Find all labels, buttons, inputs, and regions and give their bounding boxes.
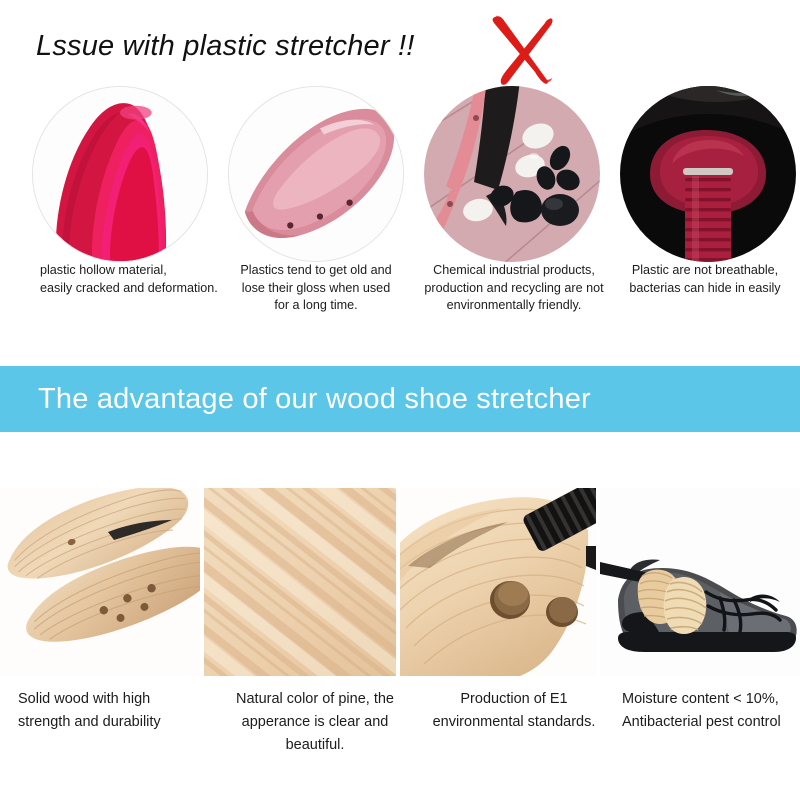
wood-caption-1: Solid wood with high strength and durabi… <box>18 688 208 734</box>
plastic-image-row <box>0 86 800 266</box>
plastic-image-4 <box>620 86 796 262</box>
plastic-issues-section: Lssue with plastic stretcher !! <box>0 0 800 366</box>
plastic-image-2 <box>228 86 404 262</box>
wood-caption-4: Moisture content < 10%, Antibacterial pe… <box>622 688 800 734</box>
caption-line: bacterias can hide in easily <box>614 280 796 298</box>
wood-image-2 <box>204 488 396 676</box>
wood-caption-2: Natural color of pine, the apperance is … <box>212 688 418 757</box>
red-cross-x-icon <box>489 14 555 86</box>
pine-wood-grain-closeup-photo <box>204 488 396 676</box>
caption-line: plastic hollow material, <box>40 262 240 280</box>
plastic-caption-3: Chemical industrial products, production… <box>412 262 616 315</box>
caption-line: for a long time. <box>222 297 410 315</box>
plastic-image-1 <box>32 86 208 262</box>
wood-advantages-section: Solid wood with high strength and durabi… <box>0 432 800 800</box>
caption-line: lose their gloss when used <box>222 280 410 298</box>
plastic-image-3 <box>424 86 600 262</box>
caption-line: Chemical industrial products, <box>412 262 616 280</box>
caption-line: Plastics tend to get old and <box>222 262 410 280</box>
wood-caption-3: Production of E1 environmental standards… <box>418 688 610 734</box>
caption-line: Solid wood with high <box>18 688 208 711</box>
wood-image-4 <box>600 488 800 676</box>
caption-line: environmentally friendly. <box>412 297 616 315</box>
caption-line: Production of E1 <box>418 688 610 711</box>
caption-line: Antibacterial pest control <box>622 711 800 734</box>
caption-line: strength and durability <box>18 711 208 734</box>
advantage-banner-title: The advantage of our wood shoe stretcher <box>38 383 591 416</box>
plastic-caption-4: Plastic are not breathable, bacterias ca… <box>614 262 796 297</box>
pine-shoe-stretcher-pair-photo <box>0 488 200 676</box>
caption-line: Moisture content < 10%, <box>622 688 800 711</box>
caption-line: Plastic are not breathable, <box>614 262 796 280</box>
caption-line: environmental standards. <box>418 711 610 734</box>
caption-line: production and recycling are not <box>412 280 616 298</box>
pink-plastic-stretcher-photo <box>33 87 207 261</box>
caption-line: easily cracked and deformation. <box>40 280 240 298</box>
wood-block-with-holes-photo <box>400 488 596 676</box>
advantage-banner: The advantage of our wood shoe stretcher <box>0 366 800 432</box>
plastic-caption-1: plastic hollow material, easily cracked … <box>40 262 240 297</box>
plastic-parts-on-tile-photo <box>424 86 600 262</box>
plastic-caption-2: Plastics tend to get old and lose their … <box>222 262 410 315</box>
plastic-issues-heading: Lssue with plastic stretcher !! <box>36 30 415 63</box>
faded-pink-plastic-shell-photo <box>229 87 403 261</box>
wood-image-1 <box>0 488 200 676</box>
wood-image-row <box>0 488 800 676</box>
wood-image-3 <box>400 488 596 676</box>
caption-line: Natural color of pine, the <box>212 688 418 711</box>
red-stretcher-in-black-shoe-photo <box>620 86 796 262</box>
stretcher-inside-dress-shoe-photo <box>600 488 800 676</box>
caption-line: apperance is clear and beautiful. <box>212 711 418 757</box>
